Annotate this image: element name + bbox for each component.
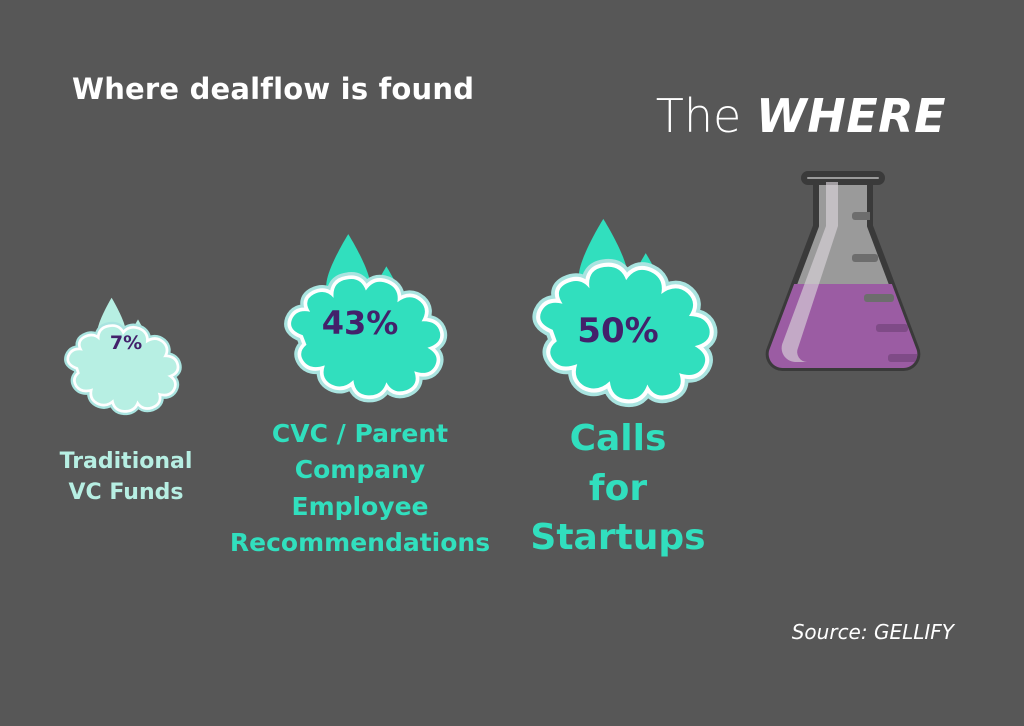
blob-cvc: 43%	[272, 228, 448, 400]
erlenmeyer-flask-icon	[752, 166, 934, 388]
stat-label-line: Employee	[230, 489, 490, 525]
stat-label-line: Traditional	[60, 446, 193, 477]
flask-graduation-mark	[888, 354, 920, 362]
flask-liquid	[752, 284, 934, 388]
flask-graduation-mark	[864, 294, 894, 302]
stat-label-line: CVC / Parent	[230, 416, 490, 452]
stat-label-traditional: Traditional VC Funds	[60, 446, 193, 508]
section-title-strong: WHERE	[756, 89, 946, 143]
stat-label-line: Recommendations	[230, 525, 490, 561]
splat-blob-icon	[272, 228, 448, 400]
blob-shape	[540, 267, 709, 400]
stat-label-line: Startups	[530, 513, 705, 563]
flask-rim	[804, 174, 882, 182]
flask-graduation-mark	[852, 254, 878, 262]
stat-group-cvc-parent-company: 43% CVC / Parent Company Employee Recomm…	[272, 228, 448, 400]
splat-blob-icon	[54, 288, 198, 418]
flask-graduation-mark	[876, 324, 908, 332]
stat-label-line: Calls	[530, 414, 705, 464]
stat-group-calls-for-startups: 50% Calls for Startups	[520, 214, 716, 400]
stat-group-traditional-vc-funds: 7% Traditional VC Funds	[54, 288, 198, 418]
infographic-slide: Where dealflow is found The WHERE 7% Tra…	[0, 0, 1024, 726]
stat-label-line: for	[530, 464, 705, 514]
blob-calls: 50%	[520, 214, 716, 400]
page-title: Where dealflow is found	[72, 72, 474, 106]
blob-traditional: 7%	[54, 288, 198, 418]
flask-graduation-mark	[852, 212, 878, 220]
source-note: Source: GELLIFY	[792, 620, 954, 644]
stat-label-line: Company	[230, 452, 490, 488]
stat-label-line: VC Funds	[60, 477, 193, 508]
blob-shape	[69, 327, 176, 410]
splat-blob-icon	[520, 214, 716, 400]
section-title: The WHERE	[656, 92, 946, 140]
blob-shape	[291, 279, 440, 395]
section-title-light: The	[656, 89, 756, 143]
erlenmeyer-flask-illustration	[752, 166, 934, 388]
stat-label-cvc: CVC / Parent Company Employee Recommenda…	[230, 416, 490, 561]
stat-label-calls: Calls for Startups	[530, 414, 705, 563]
